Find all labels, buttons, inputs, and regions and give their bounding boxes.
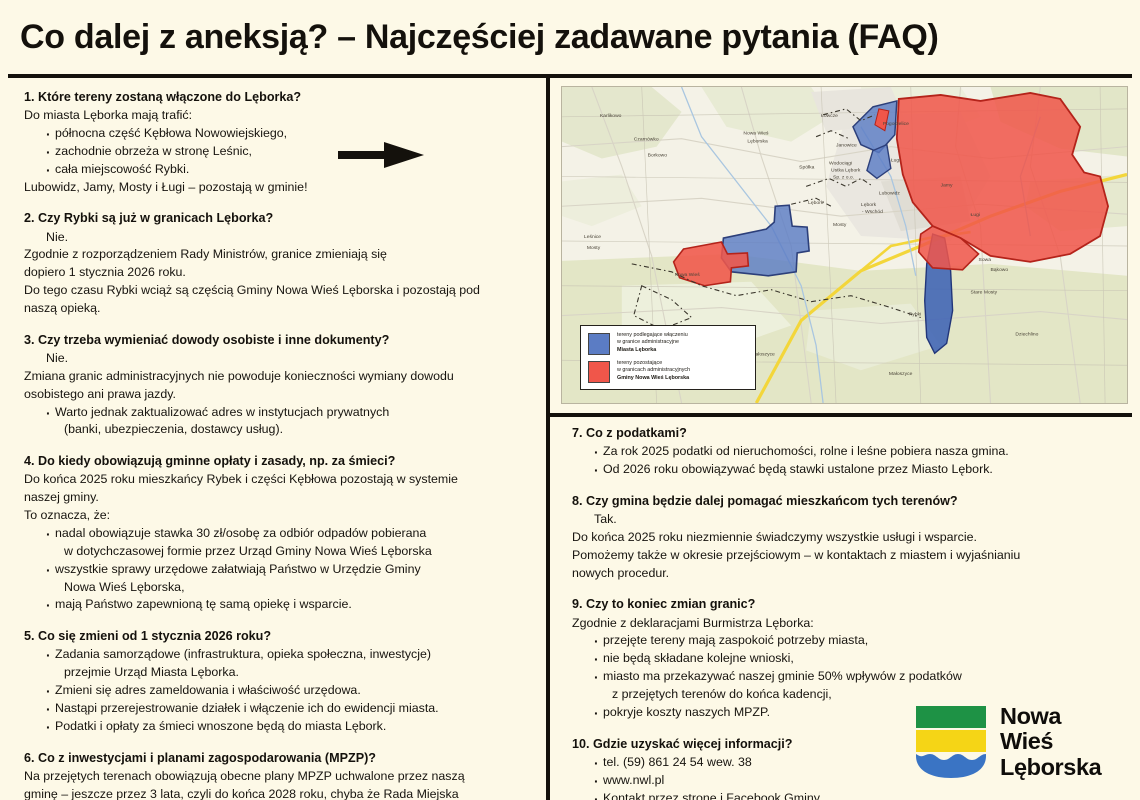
legend-blue-line2: w granice administracyjne <box>617 339 688 346</box>
faq-bullet-text: pokryje koszty naszych MPZP. <box>603 705 770 719</box>
faq-bullet-text: www.nwl.pl <box>603 773 664 787</box>
svg-text:Ustka Lębork: Ustka Lębork <box>831 167 861 173</box>
svg-text:Nowa Wieś: Nowa Wieś <box>675 272 701 278</box>
faq-bullet: Zadania samorządowe (infrastruktura, opi… <box>46 646 534 682</box>
faq-question: 9. Czy to koniec zmian granic? <box>572 595 1128 613</box>
faq-line: Na przejętych terenach obowiązują obecne… <box>24 768 534 786</box>
faq-bullet-text: zachodnie obrzeża w stronę Leśnic, <box>55 144 252 158</box>
faq-bullet-text: miasto ma przekazywać naszej gminie 50% … <box>603 669 962 683</box>
column-divider <box>546 76 550 800</box>
svg-text:Lębork: Lębork <box>808 200 824 206</box>
svg-text:Dziechlino: Dziechlino <box>1015 331 1038 337</box>
faq-question: 3. Czy trzeba wymieniać dowody osobiste … <box>24 331 534 349</box>
faq-bullet-text: Od 2026 roku obowiązywać będą stawki ust… <box>603 462 993 476</box>
faq-bullet: Nastąpi przerejestrowanie działek i włąc… <box>46 700 534 718</box>
faq-bullet: Warto jednak zaktualizować adres w insty… <box>46 404 534 440</box>
faq-line: Do tego czasu Rybki wciąż są częścią Gmi… <box>24 282 534 300</box>
faq-lead: Do miasta Lęborka mają trafić: <box>24 107 534 125</box>
faq-bullet: nadal obowiązuje stawka 30 zł/osobę za o… <box>46 525 534 561</box>
map-panel[interactable]: Karlikowo Czarnówko Borkowo Nowa Wieś Lę… <box>561 86 1128 404</box>
coat-of-arms-icon <box>914 704 988 780</box>
faq-question: 1. Które tereny zostaną włączone do Lębo… <box>24 88 534 106</box>
logo-line-1: Nowa <box>1000 704 1101 729</box>
faq-item: 7. Co z podatkami?Za rok 2025 podatki od… <box>572 424 1128 479</box>
svg-text:Małoszyce: Małoszyce <box>889 371 913 377</box>
faq-bullet: Zmieni się adres zameldowania i właściwo… <box>46 682 534 700</box>
faq-bullet: Kontakt przez stronę i Facebook Gminy <box>594 790 1128 800</box>
faq-answer: Nie. <box>24 229 534 247</box>
svg-text:Lębork: Lębork <box>861 202 877 208</box>
legend-item-blue: tereny podlegające włączeniu w granice a… <box>588 332 746 355</box>
faq-answer: Nie. <box>24 350 534 368</box>
faq-line: To oznacza, że: <box>24 507 534 525</box>
faq-bullet-text: Kontakt przez stronę i Facebook Gminy <box>603 791 820 800</box>
faq-tail: Lubowidz, Jamy, Mosty i Ługi – pozostają… <box>24 179 534 197</box>
faq-bullet-text: Podatki i opłaty za śmieci wnoszone będą… <box>55 719 386 733</box>
faq-line: Do końca 2025 roku niezmiennie świadczym… <box>572 529 1128 547</box>
faq-line: nowych procedur. <box>572 565 1128 583</box>
svg-text:Ługi: Ługi <box>891 158 900 164</box>
faq-bullet-text: Nastąpi przerejestrowanie działek i włąc… <box>55 701 439 715</box>
faq-line: dopiero 1 stycznia 2026 roku. <box>24 264 534 282</box>
faq-bullet-list: północna część Kębłowa Nowowiejskiego,za… <box>24 125 534 179</box>
faq-item: 6. Co z inwestycjami i planami zagospoda… <box>24 749 534 800</box>
faq-left-column: 1. Które tereny zostaną włączone do Lębo… <box>24 88 534 793</box>
faq-line: gminę – jeszcze przez 3 lata, czyli do k… <box>24 786 534 800</box>
page-title: Co dalej z aneksją? – Najczęściej zadawa… <box>0 18 939 57</box>
legend-red-line1: tereny pozostające <box>617 360 690 367</box>
faq-bullet: północna część Kębłowa Nowowiejskiego, <box>46 125 534 143</box>
faq-question: 7. Co z podatkami? <box>572 424 1128 442</box>
faq-line: osobistego ani prawa jazdy. <box>24 386 534 404</box>
svg-text:Mosty: Mosty <box>587 245 601 251</box>
faq-item: 8. Czy gmina będzie dalej pomagać mieszk… <box>572 492 1128 583</box>
legend-label-blue: tereny podlegające włączeniu w granice a… <box>617 332 688 354</box>
svg-text:Borkowo: Borkowo <box>648 153 668 159</box>
faq-bullet-text: Zmieni się adres zameldowania i właściwo… <box>55 683 361 697</box>
faq-bullet: zachodnie obrzeża w stronę Leśnic, <box>46 143 534 161</box>
svg-text:Ługi: Ługi <box>971 212 980 218</box>
faq-bullet-text: Zadania samorządowe (infrastruktura, opi… <box>55 647 431 661</box>
svg-text:Karlikowo: Karlikowo <box>600 113 622 119</box>
faq-bullet-text: Za rok 2025 podatki od nieruchomości, ro… <box>603 444 1009 458</box>
svg-text:Jamy: Jamy <box>941 182 953 188</box>
faq-bullet: Za rok 2025 podatki od nieruchomości, ro… <box>594 443 1128 461</box>
faq-line: Do końca 2025 roku mieszkańcy Rybek i cz… <box>24 471 534 489</box>
legend-swatch-blue <box>588 333 610 355</box>
logo-line-2: Wieś <box>1000 729 1101 754</box>
faq-line: Zgodnie z rozporządzeniem Rady Ministrów… <box>24 246 534 264</box>
map-legend: tereny podlegające włączeniu w granice a… <box>580 325 756 390</box>
faq-bullet-list: Zadania samorządowe (infrastruktura, opi… <box>24 646 534 735</box>
infographic-page: Co dalej z aneksją? – Najczęściej zadawa… <box>0 0 1140 800</box>
faq-bullet-continuation: (banki, ubezpieczenia, dostawcy usług). <box>55 421 534 439</box>
faq-question: 5. Co się zmieni od 1 stycznia 2026 roku… <box>24 627 534 645</box>
faq-bullet-list: Za rok 2025 podatki od nieruchomości, ro… <box>572 443 1128 479</box>
faq-question: 2. Czy Rybki są już w granicach Lęborka? <box>24 209 534 227</box>
faq-line: Pomożemy także w okresie przejściowym – … <box>572 547 1128 565</box>
faq-line: Zmiana granic administracyjnych nie powo… <box>24 368 534 386</box>
legend-swatch-red <box>588 361 610 383</box>
svg-text:Łowcze: Łowcze <box>821 113 838 119</box>
faq-bullet-continuation: w dotychczasowej formie przez Urząd Gmin… <box>55 543 534 561</box>
faq-bullet-text: nadal obowiązuje stawka 30 zł/osobę za o… <box>55 526 426 540</box>
legend-blue-line3: Miasta Lęborka <box>617 347 656 353</box>
legend-label-red: tereny pozostające w granicach administr… <box>617 360 690 382</box>
faq-bullet-text: przejęte tereny mają zaspokoić potrzeby … <box>603 633 868 647</box>
legend-red-line2: w granicach administracyjnych <box>617 367 690 374</box>
faq-bullet-continuation: Nowa Wieś Lęborska, <box>55 579 534 597</box>
faq-bullet: Podatki i opłaty za śmieci wnoszone będą… <box>46 718 534 736</box>
faq-question: 4. Do kiedy obowiązują gminne opłaty i z… <box>24 452 534 470</box>
faq-answer: Tak. <box>572 511 1128 529</box>
faq-item: 4. Do kiedy obowiązują gminne opłaty i z… <box>24 452 534 614</box>
faq-bullet-text: Warto jednak zaktualizować adres w insty… <box>55 405 389 419</box>
faq-bullet-text: północna część Kębłowa Nowowiejskiego, <box>55 126 287 140</box>
faq-line: naszą opieką. <box>24 300 534 318</box>
svg-text:Sp. z o.o.: Sp. z o.o. <box>833 174 854 180</box>
map-faq-divider <box>548 413 1132 417</box>
faq-lead: Zgodnie z deklaracjami Burmistrza Lębork… <box>572 615 1128 633</box>
faq-bullet: nie będą składane kolejne wnioski, <box>594 650 1128 668</box>
faq-bullet-list: nadal obowiązuje stawka 30 zł/osobę za o… <box>24 525 534 614</box>
faq-question: 6. Co z inwestycjami i planami zagospoda… <box>24 749 534 767</box>
legend-red-line3: Gminy Nowa Wieś Lęborska <box>617 375 689 381</box>
logo-line-3: Lęborska <box>1000 755 1101 780</box>
faq-bullet-text: nie będą składane kolejne wnioski, <box>603 651 794 665</box>
svg-text:Janowice: Janowice <box>836 143 857 149</box>
faq-bullet: mają Państwo zapewnioną tę samą opiekę i… <box>46 596 534 614</box>
svg-text:Rybki: Rybki <box>909 312 921 318</box>
svg-text:Sowa: Sowa <box>979 257 992 263</box>
faq-item: 5. Co się zmieni od 1 stycznia 2026 roku… <box>24 627 534 735</box>
svg-text:Lubowidz: Lubowidz <box>879 190 901 196</box>
faq-bullet: przejęte tereny mają zaspokoić potrzeby … <box>594 632 1128 650</box>
faq-bullet-text: tel. (59) 861 24 54 wew. 38 <box>603 755 752 769</box>
faq-item: 2. Czy Rybki są już w granicach Lęborka?… <box>24 209 534 317</box>
faq-bullet-text: wszystkie sprawy urzędowe załatwiają Pań… <box>55 562 421 576</box>
faq-question: 8. Czy gmina będzie dalej pomagać mieszk… <box>572 492 1128 510</box>
faq-bullet: Od 2026 roku obowiązywać będą stawki ust… <box>594 461 1128 479</box>
logo-text: Nowa Wieś Lęborska <box>1000 704 1101 780</box>
svg-text:- Wschód: - Wschód <box>862 209 883 215</box>
svg-text:Nowa Wieś: Nowa Wieś <box>743 131 769 137</box>
svg-text:Lęborska: Lęborska <box>747 139 768 145</box>
svg-text:Stare Mosty: Stare Mosty <box>971 290 998 296</box>
svg-text:Wodociągi: Wodociągi <box>829 161 852 167</box>
municipality-logo: Nowa Wieś Lęborska <box>914 696 1128 788</box>
svg-text:Spółka: Spółka <box>799 164 814 170</box>
faq-bullet-list: Warto jednak zaktualizować adres w insty… <box>24 404 534 440</box>
faq-item: 3. Czy trzeba wymieniać dowody osobiste … <box>24 331 534 439</box>
faq-bullet: cała miejscowość Rybki. <box>46 161 534 179</box>
svg-text:Czarnówko: Czarnówko <box>634 137 659 143</box>
header: Co dalej z aneksją? – Najczęściej zadawa… <box>0 0 1140 74</box>
faq-line: naszej gminy. <box>24 489 534 507</box>
faq-item: 1. Które tereny zostaną włączone do Lębo… <box>24 88 534 196</box>
legend-blue-line1: tereny podlegające włączeniu <box>617 332 688 339</box>
svg-text:Pogorzelice: Pogorzelice <box>883 121 909 127</box>
arrow-right-icon <box>338 140 424 170</box>
faq-bullet-continuation: przejmie Urząd Miasta Lęborka. <box>55 664 534 682</box>
faq-bullet: wszystkie sprawy urzędowe załatwiają Pań… <box>46 561 534 597</box>
svg-text:Leśnice: Leśnice <box>584 234 601 240</box>
legend-item-red: tereny pozostające w granicach administr… <box>588 360 746 383</box>
title-divider <box>8 74 1132 78</box>
svg-text:Bąkowo: Bąkowo <box>990 267 1008 273</box>
svg-text:Mosty: Mosty <box>833 222 847 228</box>
faq-bullet-text: mają Państwo zapewnioną tę samą opiekę i… <box>55 597 352 611</box>
faq-bullet-text: cała miejscowość Rybki. <box>55 162 189 176</box>
